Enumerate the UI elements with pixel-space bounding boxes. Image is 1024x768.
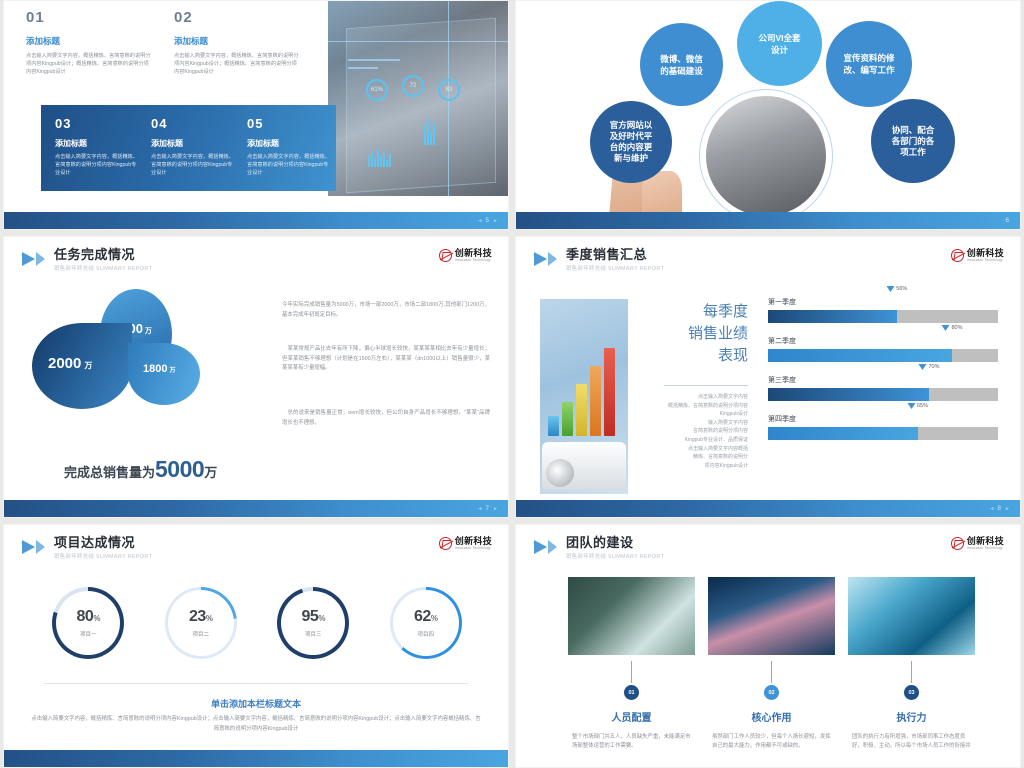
play-triangle-icon [22,252,35,266]
team-photo-3 [848,577,975,655]
page-number: 8 [997,505,1002,512]
badge-number: 03 [904,685,919,700]
petal-value-left: 2000万 [48,355,92,372]
team-columns: 01 人员配置 整个市场部门共五人，人员缺失严重，未能满足市场部整体运营的工作需… [568,661,976,752]
card-title: 添加标题 [247,138,331,149]
bar-marker: 80% [941,325,962,331]
bar-group-q3: 第三季度 70% [768,375,998,401]
logo-text-en: Innovation Technology [455,547,492,550]
card-title: 添加标题 [26,35,152,47]
petal-value-right: 1800万 [143,363,176,375]
bar-marker: 70% [918,364,939,370]
donut-value: 95% [302,608,325,626]
slide-footer-bar [4,750,508,767]
paragraph-2: 某某常规产品比去年有所下降，偏心半球增长较快，某某某某相比去年有少量增长；但某某… [282,345,490,374]
bubble-5[interactable]: 协同、配合 各部门的各 项工作 [871,99,955,183]
paragraph-3: 总的说来是销售量正常，oem增长较快，但公司自身产品增长不够理想，"某某"品牌增… [282,409,490,428]
chevron-down-icon [941,325,949,331]
kpi-ring-3: 63 [438,79,460,101]
slide-header: 团队的建设 销售部年终总结 SUMMARY REPORT [534,535,664,560]
next-arrow-icon[interactable]: ► [493,506,498,512]
logo-text-en: Innovation Technology [455,259,492,262]
bar-fill [768,349,952,362]
donut-gauge-4: 62% 项目四 [390,587,462,659]
paragraph-1: 今年实际完成销售量为5000万，市场一部2000万，市场二部1800万,其他部门… [282,301,490,320]
prev-arrow-icon[interactable]: ◄ [477,218,482,224]
prev-arrow-icon[interactable]: ◄ [477,506,482,512]
slide-footer-bar: ◄ 7 ► [4,500,508,517]
card-number: 02 [174,9,300,26]
chevron-down-icon [907,403,915,409]
section-text: 点击输入简要文字内容，概括精炼、言简意赅的说明分项内容Kingpub设计；点击输… [30,715,482,734]
slide8-chart-photo [540,299,628,494]
chevron-down-icon [918,364,926,370]
quarter-bar-chart: 第一季度 56% 第二季度 80% 第三 [768,297,998,453]
page-subtitle: 销售部年终总结 SUMMARY REPORT [54,264,152,272]
play-triangle-icon-2 [36,252,45,266]
team-photos [568,577,976,655]
slide-thumbnail-10[interactable]: 团队的建设 销售部年终总结 SUMMARY REPORT 创新科技 Innova… [515,524,1021,768]
donut-gauge-chart: 80% 项目一 23% 项目二 95% 项目三 62% 项目四 [32,587,482,659]
total-prefix: 完成总销售量为 [64,465,155,480]
card-number: 05 [247,116,331,131]
total-unit: 万 [204,465,217,480]
bar-value: 65% [917,403,928,409]
kpi-ring-1: 61% [366,79,388,101]
bar-value: 70% [928,364,939,370]
logo-text-cn: 创新科技 [967,537,1004,546]
bar-group-q1: 第一季度 56% [768,297,998,323]
logo-text-cn: 创新科技 [455,249,492,258]
column-title: 核心作用 [752,709,792,724]
logo-circle-icon [439,537,452,550]
total-value: 5000 [155,456,204,482]
badge-number: 01 [624,685,639,700]
brand-logo: 创新科技 Innovation Technology [439,537,492,550]
bubble-3[interactable]: 宣传资料的修 改、编写工作 [826,21,912,107]
column-title: 执行力 [897,709,927,724]
donut-value: 80% [77,608,100,626]
bar-track [768,388,998,401]
card-01[interactable]: 01 添加标题 点击输入简要文字内容，概括精炼、言简意赅的说明分项内容Kingp… [26,9,152,76]
donut-value: 23% [189,608,212,626]
column-text: 团队的执行力有所增强，市场部同事工作态度良好，积极、主动，所以每个市场人员工作的… [848,733,975,752]
slide8-side-text: 点击输入简要文字内容 概括精炼、言简意赅的说明分项内容 Kingpub设计 输入… [626,393,748,470]
donut-gauge-3: 95% 项目三 [277,587,349,659]
page-number: 7 [485,505,490,512]
photo-ring [699,89,833,223]
bubble-4[interactable]: 官方网站以 及好时代平 台的内容更 新与维护 [590,101,672,183]
card-text: 点击输入简要文字内容，概括精炼、言简意赅的说明分项内容Kingpub专业设计 [247,153,331,177]
play-triangle-icon-2 [548,252,557,266]
logo-circle-icon [951,249,964,262]
kpi-ring-2: 72 [402,75,424,97]
card-text: 点击输入简要文字内容，概括精炼、言简意赅的说明分项内容Kingpub专业设计 [55,153,139,177]
bar-group-q4: 第四季度 65% [768,414,998,440]
bubble-label: 协同、配合 各部门的各 项工作 [892,125,935,158]
bar-label: 第二季度 [768,336,998,346]
badge-number: 02 [764,685,779,700]
chevron-down-icon [886,286,894,292]
brand-logo: 创新科技 Innovation Technology [439,249,492,262]
logo-text-cn: 创新科技 [967,249,1004,258]
slide-header: 季度销售汇总 销售部年终总结 SUMMARY REPORT [534,247,664,272]
slide5-photo: 61% 72 63 [328,1,508,196]
bar-label: 第四季度 [768,414,998,424]
connector-line [631,661,632,683]
team-column-3[interactable]: 03 执行力 团队的执行力有所增强，市场部同事工作态度良好，积极、主动，所以每个… [848,661,975,752]
divider [664,385,748,386]
card-title: 添加标题 [151,138,235,149]
donut-label: 项目三 [305,630,322,638]
play-triangle-icon [534,252,547,266]
page-subtitle: 销售部年终总结 SUMMARY REPORT [54,552,152,560]
slide8-big-title: 每季度 销售业绩 表现 [636,301,748,367]
donut-label: 项目一 [80,630,97,638]
total-sales: 完成总销售量为5000万 [64,456,217,483]
bar-value: 56% [896,286,907,292]
logo-text-en: Innovation Technology [967,259,1004,262]
slide-thumbnail-6[interactable]: 微博、微信 的基础建设 公司VI全套 设计 宣传资料的修 改、编写工作 官方网站… [515,0,1021,230]
bar-label: 第三季度 [768,375,998,385]
next-arrow-icon[interactable]: ► [493,218,498,224]
bar-group-q2: 第二季度 80% [768,336,998,362]
slide-header: 项目达成情况 销售部年终总结 SUMMARY REPORT [22,535,152,560]
play-triangle-icon-2 [36,540,45,554]
prev-arrow-icon[interactable]: ◄ [989,506,994,512]
bar-fill [768,310,897,323]
slide-thumbnail-7[interactable]: 任务完成情况 销售部年终总结 SUMMARY REPORT 创新科技 Innov… [3,236,509,518]
page-subtitle: 销售部年终总结 SUMMARY REPORT [566,552,664,560]
card-title: 添加标题 [174,35,300,47]
card-title: 添加标题 [55,138,139,149]
team-column-2[interactable]: 02 核心作用 虽然部门工作人员较少，但每个人扬长避短，发挥自己的最大能力，作用… [708,661,835,752]
page-number: 6 [1005,217,1010,224]
card-number: 01 [26,9,152,26]
slide-header: 任务完成情况 销售部年终总结 SUMMARY REPORT [22,247,152,272]
card-text: 点击输入简要文字内容，概括精炼、言简意赅的说明分项内容Kingpub专业设计 [151,153,235,177]
bubble-1[interactable]: 微博、微信 的基础建设 [640,23,723,106]
bar-track [768,427,998,440]
card-number: 03 [55,116,139,131]
bubble-label: 微博、微信 的基础建设 [660,53,703,77]
bar-marker: 65% [907,403,928,409]
donut-label: 项目二 [192,630,209,638]
page-title: 任务完成情况 [54,247,152,262]
divider [44,683,468,684]
page-number: 5 [485,217,490,224]
team-photo-1 [568,577,695,655]
bar-label: 第一季度 [768,297,998,307]
bubble-2[interactable]: 公司VI全套 设计 [737,1,822,86]
donut-value: 62% [414,608,437,626]
logo-text-cn: 创新科技 [455,537,492,546]
donut-gauge-2: 23% 项目二 [165,587,237,659]
connector-line [771,661,772,683]
bar-marker: 56% [886,286,907,292]
bubble-label: 官方网站以 及好时代平 台的内容更 新与维护 [610,120,653,164]
bar-track [768,349,998,362]
bubble-label: 公司VI全套 设计 [758,32,800,56]
slide-thumbnail-5[interactable]: 61% 72 63 01 添加标题 点击输入简要文字内容，概括精炼、言简意赅的说… [3,0,509,230]
donut-label: 项目四 [417,630,434,638]
slide-footer-bar: ◄ 5 ► [4,212,508,229]
play-triangle-icon-2 [548,540,557,554]
page-title: 项目达成情况 [54,535,152,550]
slide5-top-cards: 01 添加标题 点击输入简要文字内容，概括精炼、言简意赅的说明分项内容Kingp… [26,9,301,76]
bar-fill [768,427,918,440]
logo-text-en: Innovation Technology [967,547,1004,550]
slide-preview-grid: 61% 72 63 01 添加标题 点击输入简要文字内容，概括精炼、言简意赅的说… [0,0,1024,768]
page-title: 季度销售汇总 [566,247,664,262]
brand-logo: 创新科技 Innovation Technology [951,537,1004,550]
column-text: 虽然部门工作人员较少，但每个人扬长避短，发挥自己的最大能力，作用都不可或缺的。 [708,733,835,752]
play-triangle-icon [22,540,35,554]
slide5-blue-panel: 03 添加标题 点击输入简要文字内容，概括精炼、言简意赅的说明分项内容Kingp… [41,105,336,191]
card-text: 点击输入简要文字内容，概括精炼、言简意赅的说明分项内容Kingpub设计；概括精… [26,52,152,76]
logo-circle-icon [439,249,452,262]
page-subtitle: 销售部年终总结 SUMMARY REPORT [566,264,664,272]
card-03[interactable]: 03 添加标题 点击输入简要文字内容，概括精炼、言简意赅的说明分项内容Kingp… [55,116,139,191]
team-photo-2 [708,577,835,655]
slide-thumbnail-9[interactable]: 项目达成情况 销售部年终总结 SUMMARY REPORT 创新科技 Innov… [3,524,509,768]
card-number: 04 [151,116,235,131]
page-title: 团队的建设 [566,535,664,550]
card-05[interactable]: 05 添加标题 点击输入简要文字内容，概括精炼、言简意赅的说明分项内容Kingp… [247,116,331,191]
card-text: 点击输入简要文字内容，概括精炼、言简意赅的说明分项内容Kingpub设计；概括精… [174,52,300,76]
brand-logo: 创新科技 Innovation Technology [951,249,1004,262]
play-triangle-icon [534,540,547,554]
bar-value: 80% [951,325,962,331]
slide-footer-bar: 6 [516,212,1020,229]
slide-footer-bar: ◄ 8 ► [516,500,1020,517]
card-02[interactable]: 02 添加标题 点击输入简要文字内容，概括精炼、言简意赅的说明分项内容Kingp… [174,9,300,76]
section-title: 单击添加本栏标题文本 [4,697,508,710]
logo-circle-icon [951,537,964,550]
bar-fill [768,388,929,401]
column-title: 人员配置 [612,709,652,724]
bar-track [768,310,998,323]
slide-thumbnail-8[interactable]: 季度销售汇总 销售部年终总结 SUMMARY REPORT 创新科技 Innov… [515,236,1021,518]
column-text: 整个市场部门共五人，人员缺失严重，未能满足市场部整体运营的工作需要。 [568,733,695,752]
bubble-label: 宣传资料的修 改、编写工作 [843,52,894,76]
card-04[interactable]: 04 添加标题 点击输入简要文字内容，概括精炼、言简意赅的说明分项内容Kingp… [151,116,235,191]
connector-line [911,661,912,683]
donut-gauge-1: 80% 项目一 [52,587,124,659]
team-column-1[interactable]: 01 人员配置 整个市场部门共五人，人员缺失严重，未能满足市场部整体运营的工作需… [568,661,695,752]
next-arrow-icon[interactable]: ► [1005,506,1010,512]
